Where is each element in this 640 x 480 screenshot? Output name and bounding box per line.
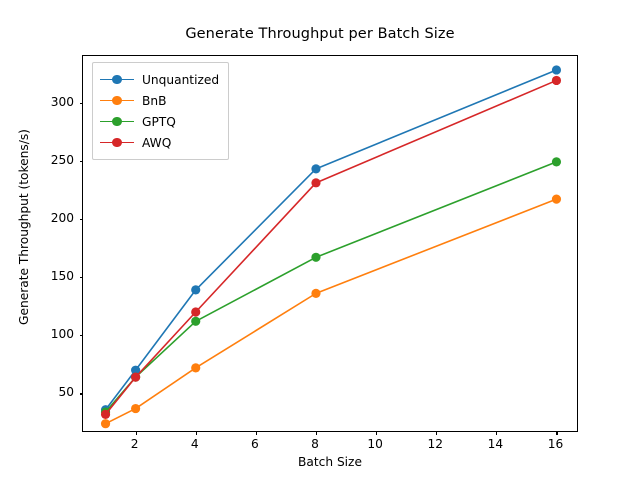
chart-legend: UnquantizedBnBGPTQAWQ xyxy=(92,62,229,160)
data-point-marker xyxy=(552,76,561,85)
x-tick-mark xyxy=(556,431,557,435)
data-point-marker xyxy=(191,363,200,372)
y-axis-label: Generate Throughput (tokens/s) xyxy=(17,37,31,417)
y-tick-mark xyxy=(80,103,84,104)
x-tick-label: 2 xyxy=(115,437,155,451)
x-tick-label: 14 xyxy=(475,437,515,451)
x-tick-mark xyxy=(496,431,497,435)
y-tick-label: 50 xyxy=(34,385,74,399)
legend-item-gptq[interactable]: GPTQ xyxy=(100,111,219,132)
x-axis-label: Batch Size xyxy=(82,455,578,469)
x-tick-mark xyxy=(376,431,377,435)
x-tick-mark xyxy=(196,431,197,435)
data-point-marker xyxy=(552,157,561,166)
x-tick-mark xyxy=(436,431,437,435)
x-tick-label: 10 xyxy=(355,437,395,451)
data-point-marker xyxy=(131,373,140,382)
legend-label: AWQ xyxy=(142,136,171,150)
chart-figure: Generate Throughput per Batch Size Gener… xyxy=(0,0,640,480)
y-tick-mark xyxy=(80,161,84,162)
legend-label: Unquantized xyxy=(142,73,219,87)
y-axis-tick-labels: 50100150200250300 xyxy=(30,0,74,480)
y-tick-label: 150 xyxy=(34,269,74,283)
x-tick-mark xyxy=(316,431,317,435)
y-tick-label: 100 xyxy=(34,327,74,341)
x-tick-label: 4 xyxy=(175,437,215,451)
legend-marker-icon xyxy=(100,136,134,150)
data-point-marker xyxy=(552,65,561,74)
data-point-marker xyxy=(191,285,200,294)
x-tick-label: 12 xyxy=(415,437,455,451)
legend-marker-icon xyxy=(100,94,134,108)
legend-marker-icon xyxy=(100,73,134,87)
legend-item-bnb[interactable]: BnB xyxy=(100,90,219,111)
data-point-marker xyxy=(311,253,320,262)
x-tick-label: 16 xyxy=(535,437,575,451)
legend-label: BnB xyxy=(142,94,166,108)
data-point-marker xyxy=(311,289,320,298)
legend-dot-icon xyxy=(112,96,122,106)
data-point-marker xyxy=(131,404,140,413)
y-tick-mark xyxy=(80,335,84,336)
data-point-marker xyxy=(191,307,200,316)
y-tick-label: 300 xyxy=(34,95,74,109)
legend-label: GPTQ xyxy=(142,115,176,129)
x-tick-mark xyxy=(136,431,137,435)
legend-marker-icon xyxy=(100,115,134,129)
legend-dot-icon xyxy=(112,75,122,85)
data-point-marker xyxy=(311,178,320,187)
y-tick-mark xyxy=(80,277,84,278)
data-point-marker xyxy=(191,317,200,326)
data-point-marker xyxy=(552,195,561,204)
data-point-marker xyxy=(101,410,110,419)
chart-title: Generate Throughput per Batch Size xyxy=(0,26,640,42)
x-tick-mark xyxy=(256,431,257,435)
data-point-marker xyxy=(311,164,320,173)
legend-item-unquantized[interactable]: Unquantized xyxy=(100,69,219,90)
legend-dot-icon xyxy=(112,138,122,148)
y-tick-label: 200 xyxy=(34,211,74,225)
y-tick-mark xyxy=(80,219,84,220)
x-tick-label: 6 xyxy=(235,437,275,451)
data-point-marker xyxy=(101,419,110,428)
legend-dot-icon xyxy=(112,117,122,127)
y-tick-label: 250 xyxy=(34,153,74,167)
legend-item-awq[interactable]: AWQ xyxy=(100,132,219,153)
y-tick-mark xyxy=(80,393,84,394)
x-tick-label: 8 xyxy=(295,437,335,451)
series-line-bnb xyxy=(106,199,557,424)
